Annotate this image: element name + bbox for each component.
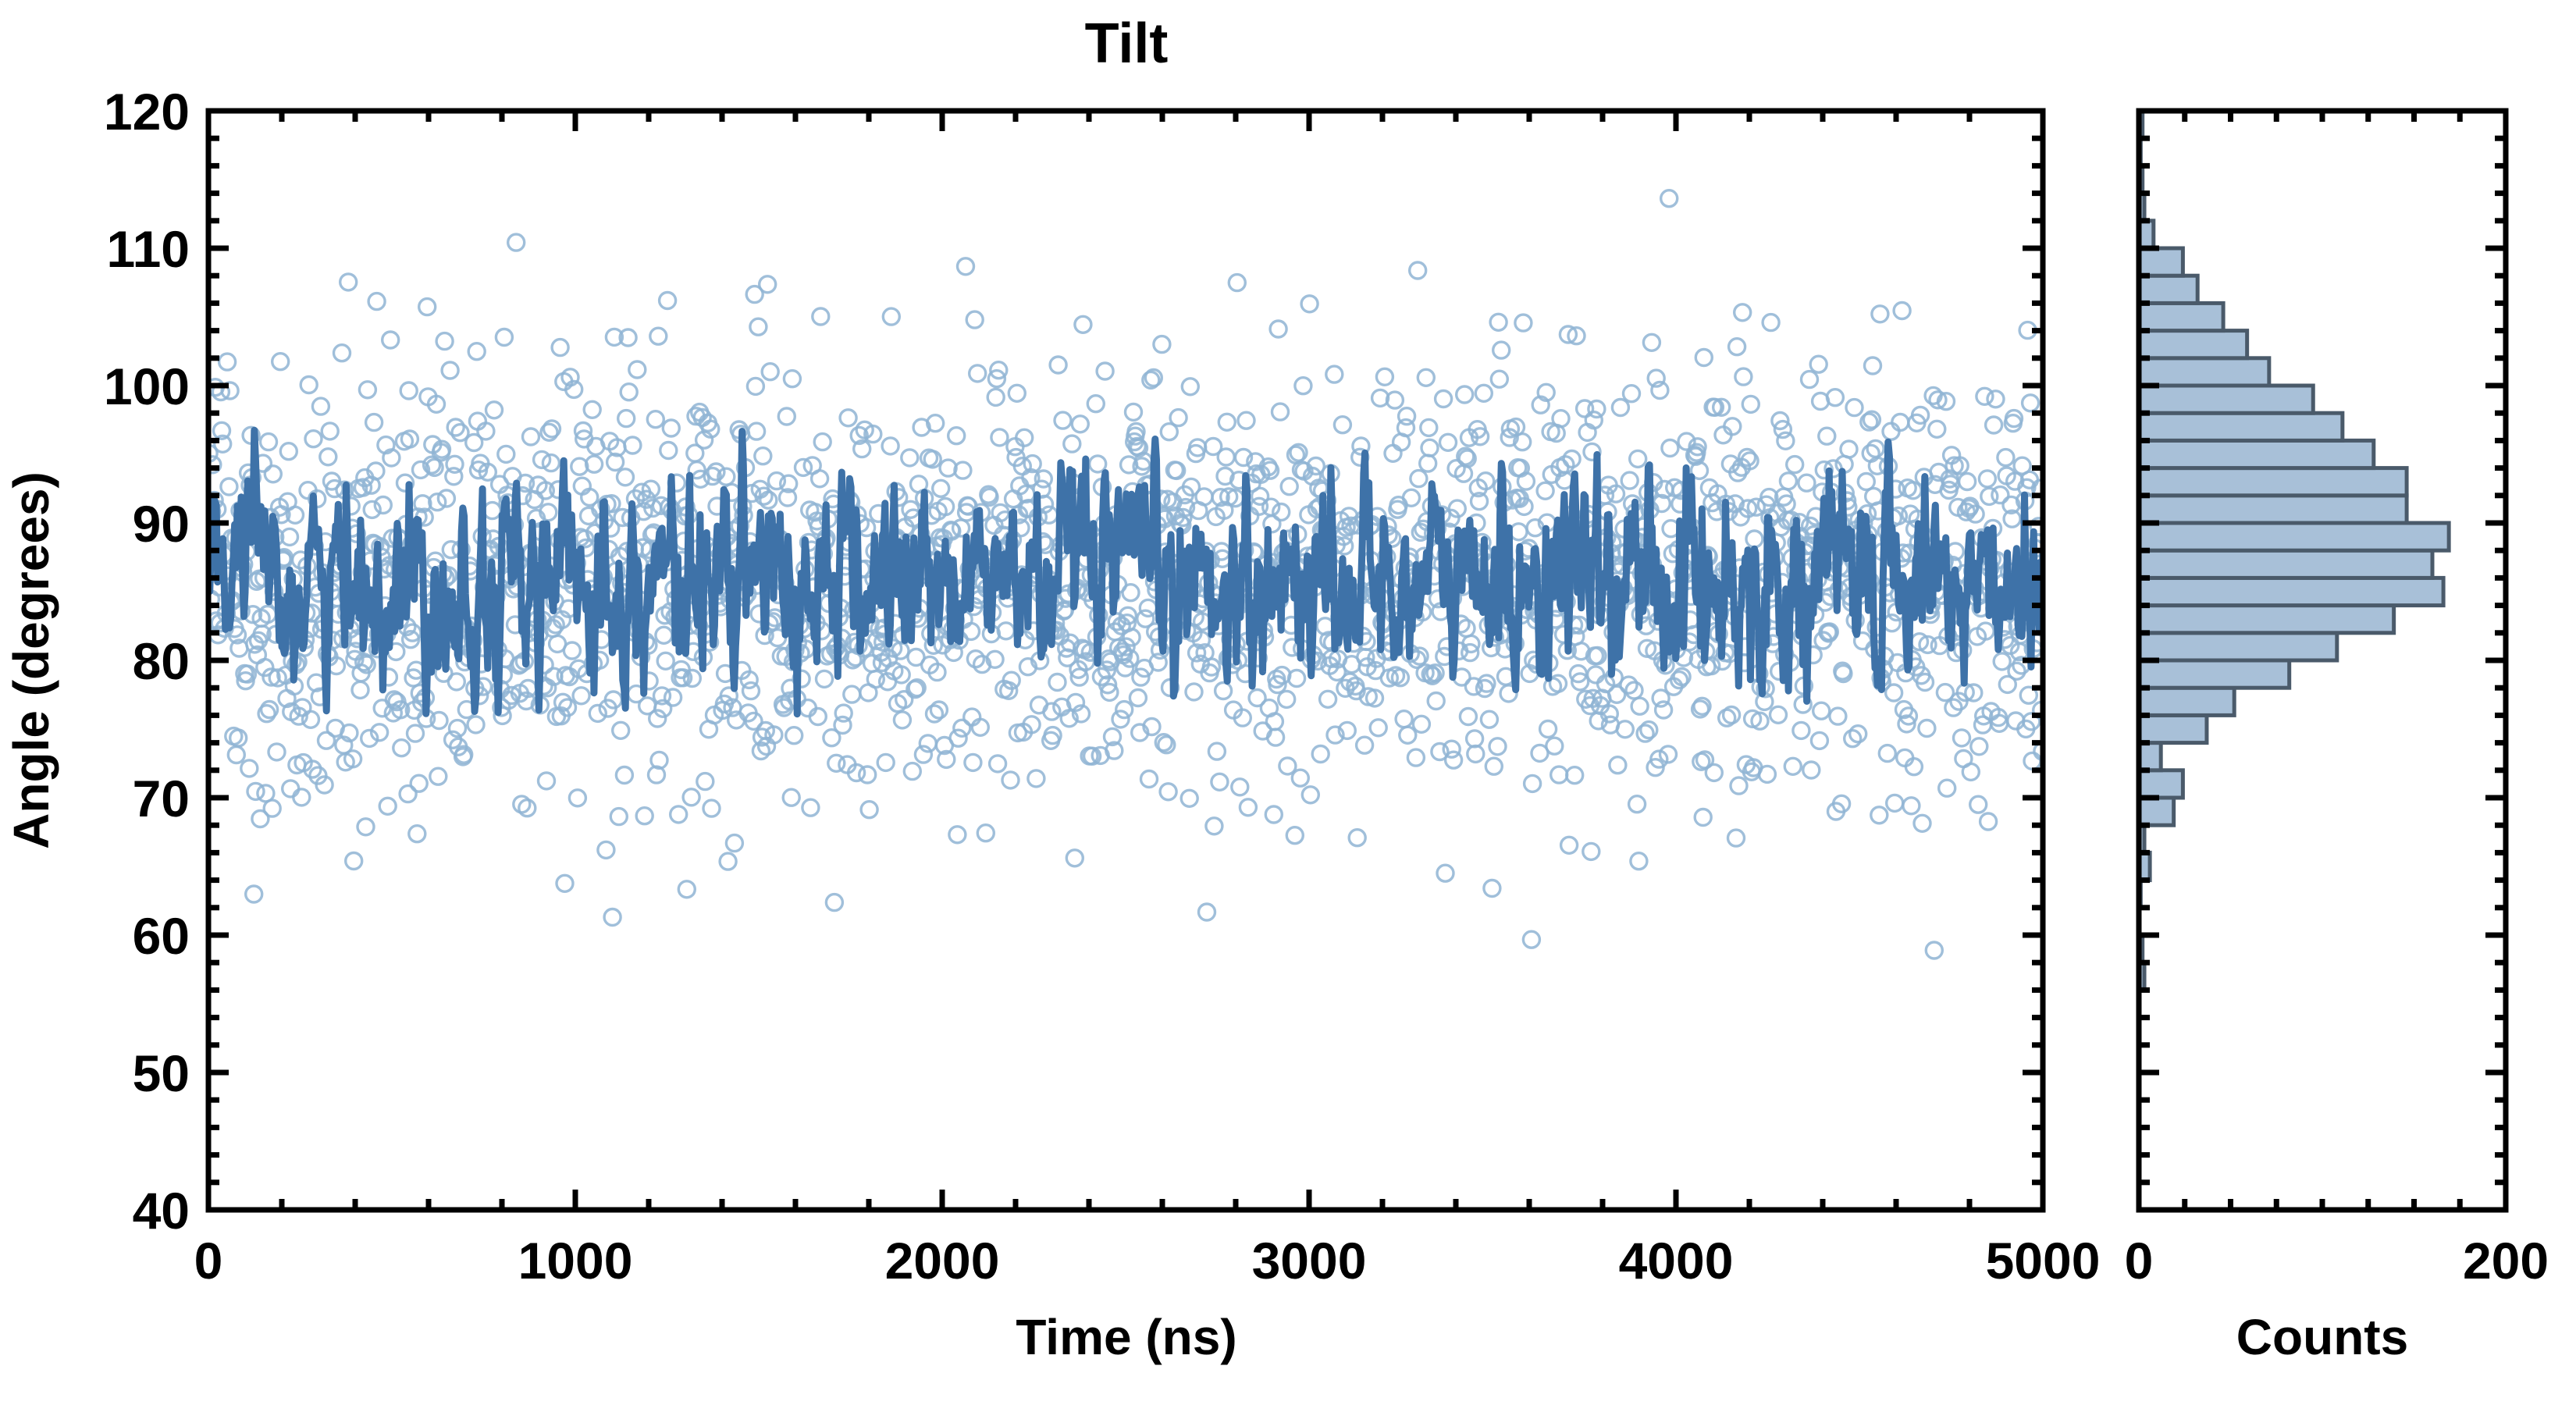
histogram-bar — [2139, 358, 2269, 386]
main-ytick-label: 70 — [133, 770, 190, 827]
histogram-bar — [2139, 798, 2174, 825]
main-ytick-label: 50 — [133, 1044, 190, 1102]
main-xtick-label: 3000 — [1252, 1232, 1367, 1289]
histogram-bar — [2139, 386, 2313, 413]
main-xtick-label: 5000 — [1986, 1232, 2101, 1289]
histogram-bar — [2139, 248, 2183, 276]
main-ytick-label: 80 — [133, 632, 190, 690]
main-xtick-label: 0 — [194, 1232, 223, 1289]
main-ytick-label: 110 — [107, 220, 190, 278]
chart-title: Tilt — [1085, 12, 1169, 75]
histogram-bar — [2139, 276, 2197, 303]
tilt-figure: Tilt 01000200030004000500040506070809010… — [0, 0, 2576, 1405]
hist-xtick-label: 200 — [2463, 1232, 2549, 1289]
histogram-bar — [2139, 688, 2234, 715]
figure-root: Tilt 01000200030004000500040506070809010… — [0, 0, 2576, 1405]
main-xtick-label: 1000 — [518, 1232, 633, 1289]
histogram-bar — [2139, 496, 2407, 523]
histogram-bar — [2139, 660, 2290, 688]
hist-x-axis-label: Counts — [2236, 1309, 2408, 1365]
main-ytick-label: 90 — [133, 495, 190, 553]
histogram-bar — [2139, 303, 2223, 330]
main-ytick-label: 120 — [104, 83, 190, 140]
histogram-bar — [2139, 413, 2343, 440]
histogram-bar — [2139, 550, 2432, 578]
histogram-bar — [2139, 468, 2407, 496]
y-axis-label: Angle (degrees) — [3, 471, 59, 849]
hist-xtick-label: 0 — [2125, 1232, 2154, 1289]
main-ytick-label: 40 — [133, 1182, 190, 1240]
histogram-bar — [2139, 770, 2183, 798]
histogram-bar — [2139, 743, 2161, 770]
histogram-bar — [2139, 440, 2374, 468]
main-xtick-label: 2000 — [885, 1232, 1000, 1289]
histogram-bar — [2139, 606, 2394, 633]
main-ytick-label: 100 — [104, 357, 190, 415]
histogram-bar — [2139, 715, 2207, 742]
histogram-bar — [2139, 578, 2443, 605]
histogram-bar — [2139, 633, 2337, 660]
main-xtick-label: 4000 — [1619, 1232, 1734, 1289]
histogram-bar — [2139, 523, 2449, 550]
histogram-bar — [2139, 331, 2247, 358]
main-ytick-label: 60 — [133, 907, 190, 965]
x-axis-label: Time (ns) — [1016, 1309, 1236, 1365]
